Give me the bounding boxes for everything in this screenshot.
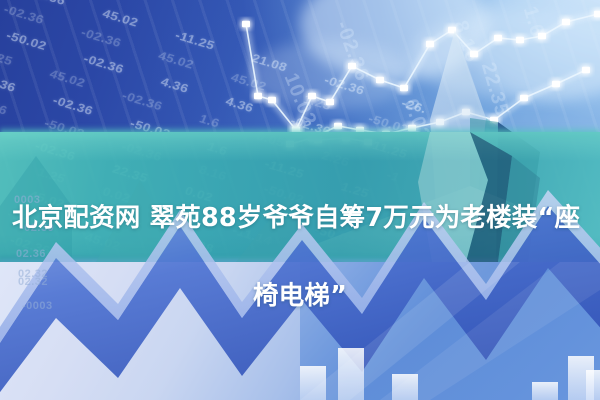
headline: 北京配资网 翠苑88岁爷爷自筹7万元为老楼装“座 椅电梯” xyxy=(0,160,600,355)
news-thumbnail-canvas: -02.36-26.32-02.3645.02-11.2521.08-02.36… xyxy=(0,0,600,400)
headline-line-1: 北京配资网 翠苑88岁爷爷自筹7万元为老楼装“座 xyxy=(10,199,590,238)
bar xyxy=(532,382,558,400)
bar xyxy=(586,370,600,400)
headline-line-2: 椅电梯” xyxy=(10,277,590,316)
